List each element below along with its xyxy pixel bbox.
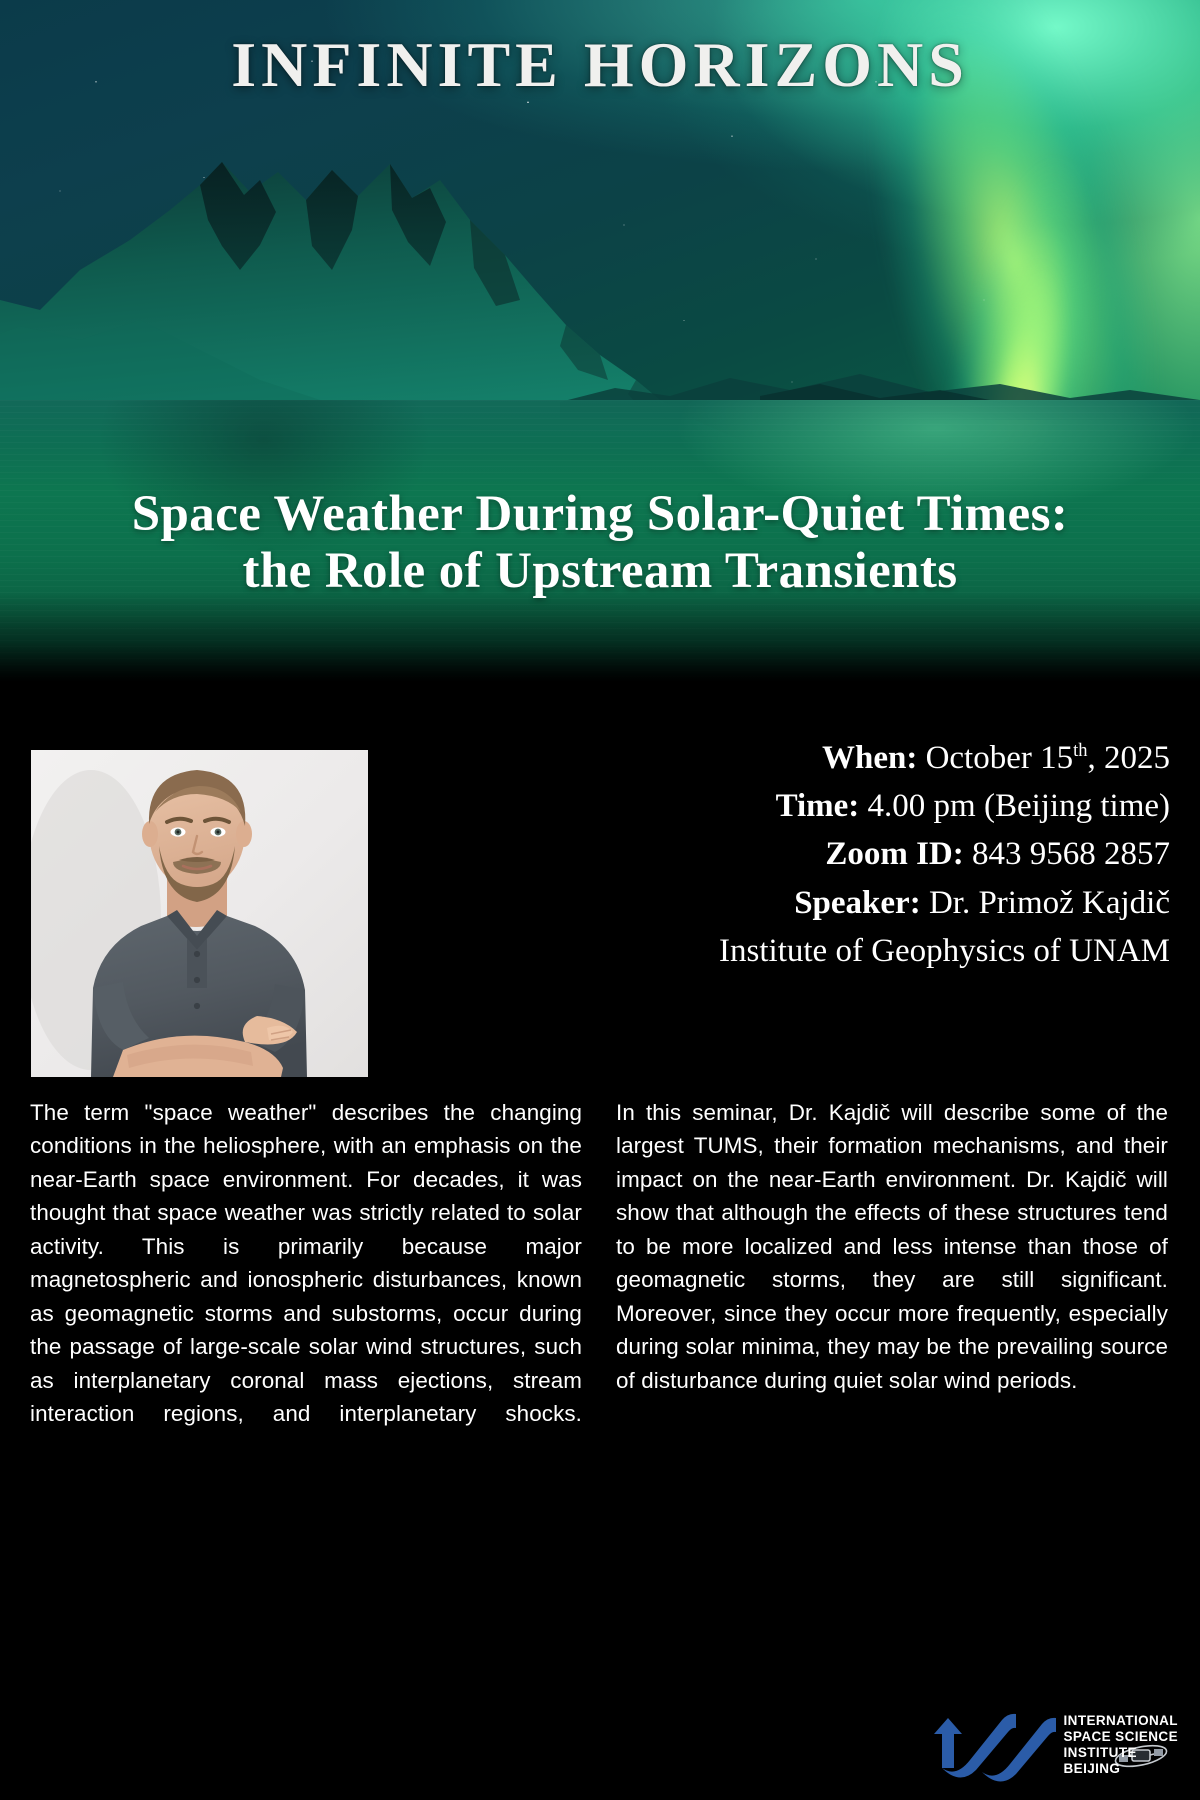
event-zoom-id-label: Zoom ID: [825, 836, 963, 872]
seminar-title: Space Weather During Solar-Quiet Times: … [0, 486, 1200, 600]
event-info-section: When: October 15th, 2025 Time: 4.00 pm (… [0, 682, 1200, 1082]
abstract-text-left: The term "space weather" describes the c… [30, 1096, 582, 1431]
seminar-title-line-2: the Role of Upstream Transients [14, 543, 1186, 600]
hero-banner: INFINITE HORIZONS Space Weather During S… [0, 0, 1200, 682]
issi-logo-wordmark: INTERNATIONAL SPACE SCIENCE INSTITUTE BE… [1064, 1713, 1178, 1776]
seminar-title-line-1: Space Weather During Solar-Quiet Times: [132, 486, 1068, 542]
event-zoom-id-value: 843 9568 2857 [964, 836, 1170, 872]
issi-bj-logo: INTERNATIONAL SPACE SCIENCE INSTITUTE BE… [928, 1708, 1178, 1782]
event-speaker-value: Dr. Primož Kajdič [921, 885, 1170, 921]
event-time-value: 4.00 pm (Beijing time) [859, 788, 1170, 824]
event-speaker-label: Speaker: [794, 885, 921, 921]
event-time-label: Time: [776, 788, 860, 824]
speaker-photo [31, 750, 368, 1077]
poster-brand-title: INFINITE HORIZONS [0, 28, 1200, 102]
event-when-year: , 2025 [1088, 740, 1171, 776]
event-when-value: October 15 [917, 740, 1073, 776]
event-speaker-row: Speaker: Dr. Primož Kajdič [570, 879, 1170, 927]
logo-line-institute: INSTITUTE [1064, 1745, 1178, 1761]
event-zoom-row: Zoom ID: 843 9568 2857 [570, 830, 1170, 878]
issi-arrow-swoosh-icon [928, 1708, 1056, 1782]
logo-line-beijing: BEIJING [1064, 1761, 1178, 1777]
abstract-column-left: The term "space weather" describes the c… [30, 1096, 582, 1431]
hero-bottom-fade [0, 592, 1200, 682]
event-when-row: When: October 15th, 2025 [570, 734, 1170, 782]
event-when-label: When: [822, 740, 917, 776]
abstract-column-right: In this seminar, Dr. Kajdič will describ… [616, 1096, 1168, 1431]
logo-line-international: INTERNATIONAL [1064, 1713, 1178, 1729]
event-when-ordinal-suffix: th [1073, 740, 1087, 760]
event-time-row: Time: 4.00 pm (Beijing time) [570, 782, 1170, 830]
abstract-text-right: In this seminar, Dr. Kajdič will describ… [616, 1096, 1168, 1397]
logo-line-space-science: SPACE SCIENCE [1064, 1729, 1178, 1745]
abstract-columns: The term "space weather" describes the c… [0, 1096, 1200, 1431]
event-details-block: When: October 15th, 2025 Time: 4.00 pm (… [570, 734, 1170, 975]
event-affiliation-row: Institute of Geophysics of UNAM [570, 927, 1170, 975]
